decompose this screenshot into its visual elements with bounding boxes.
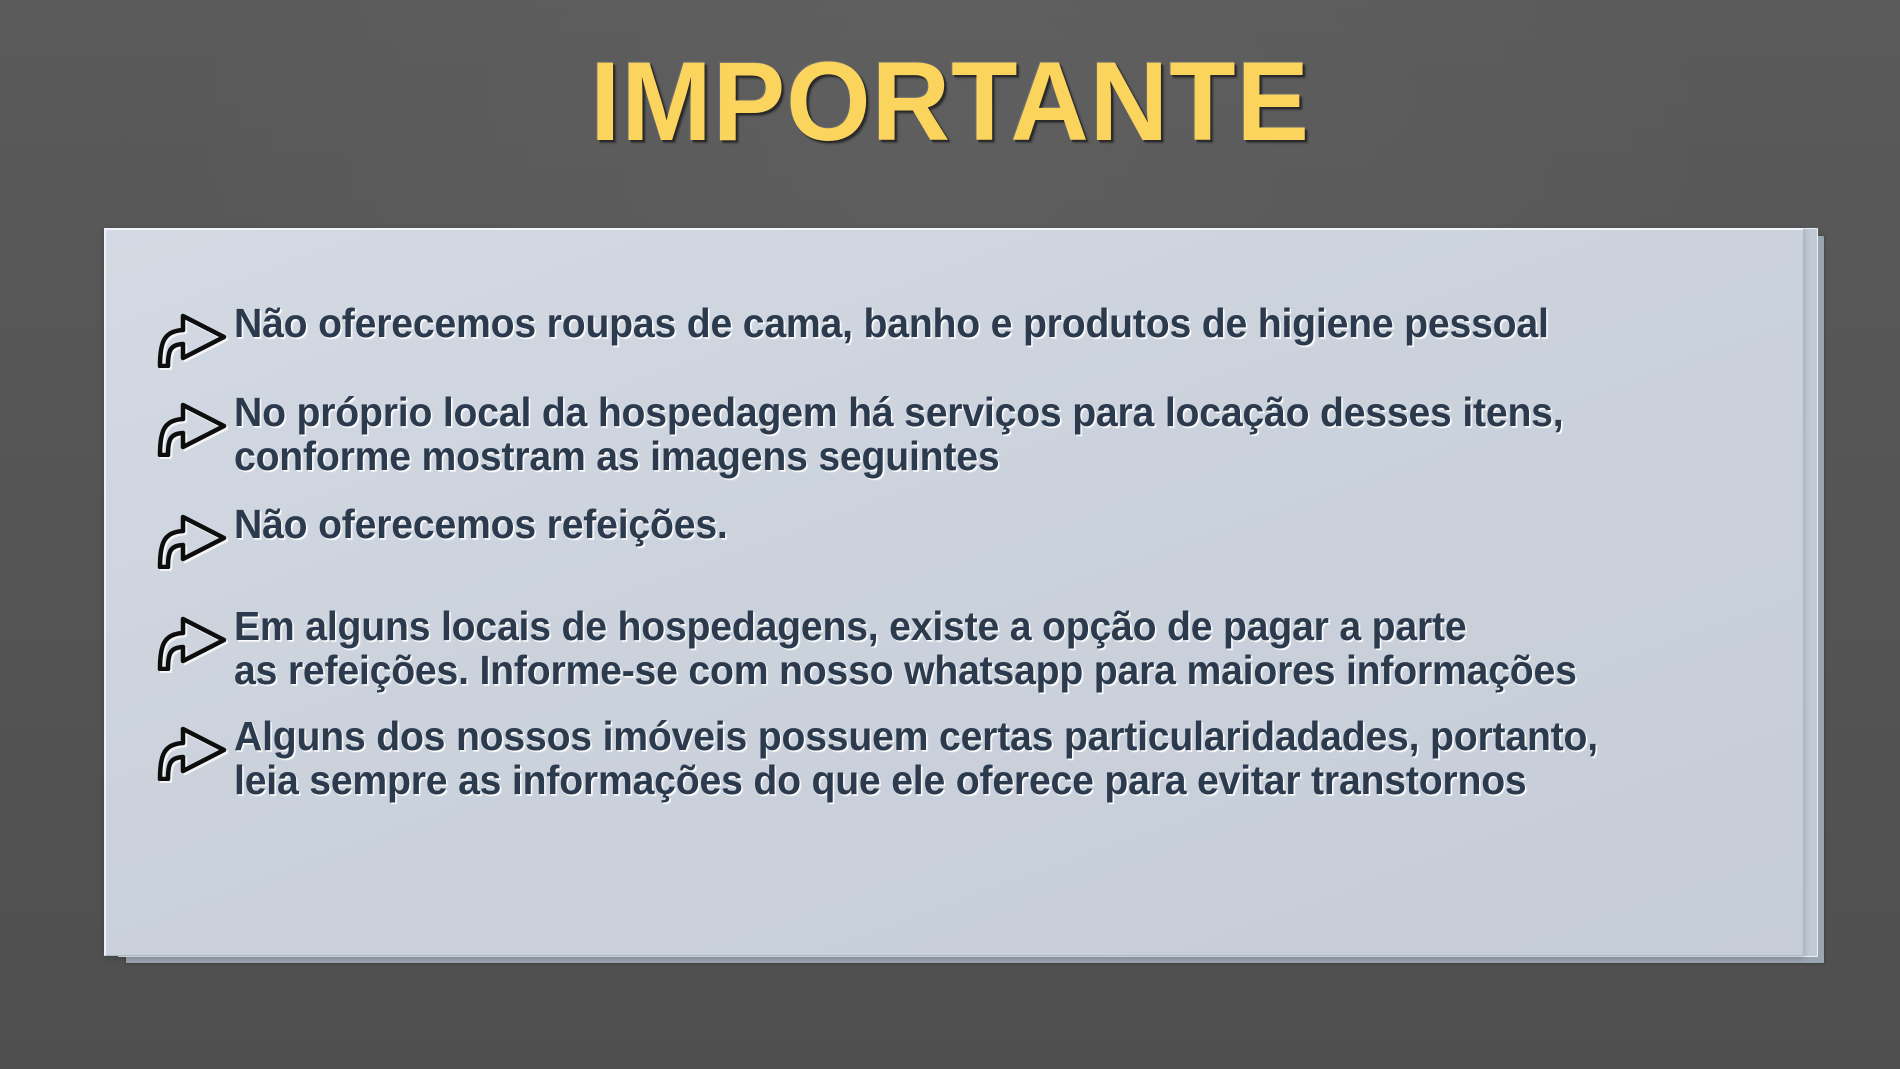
list-item: Não oferecemos refeições. (138, 503, 1785, 569)
page-title: IMPORTANTE (590, 46, 1310, 158)
list-item-label: Não oferecemos refeições. (234, 503, 728, 547)
content-panel: Não oferecemos roupas de cama, banho e p… (104, 228, 1804, 956)
slide-canvas: IMPORTANTE Não oferecemos roupas de cama… (0, 0, 1900, 1069)
list-item-label: Em alguns locais de hospedagens, existe … (234, 605, 1577, 693)
curved-right-arrow-icon (138, 395, 230, 457)
curved-right-arrow-icon (138, 719, 230, 781)
curved-right-arrow-icon (138, 306, 230, 368)
title-container: IMPORTANTE (0, 46, 1900, 158)
bullet-list: Não oferecemos roupas de cama, banho e p… (138, 302, 1785, 803)
list-item: Alguns dos nossos imóveis possuem certas… (138, 715, 1785, 803)
list-item: Não oferecemos roupas de cama, banho e p… (138, 302, 1785, 368)
list-item-label: Não oferecemos roupas de cama, banho e p… (234, 302, 1549, 346)
curved-right-arrow-icon (138, 609, 230, 671)
list-item: Em alguns locais de hospedagens, existe … (138, 605, 1785, 693)
curved-right-arrow-icon (138, 507, 230, 569)
list-item-label: No próprio local da hospedagem há serviç… (234, 391, 1563, 479)
list-item-label: Alguns dos nossos imóveis possuem certas… (234, 715, 1598, 803)
list-item: No próprio local da hospedagem há serviç… (138, 391, 1785, 479)
